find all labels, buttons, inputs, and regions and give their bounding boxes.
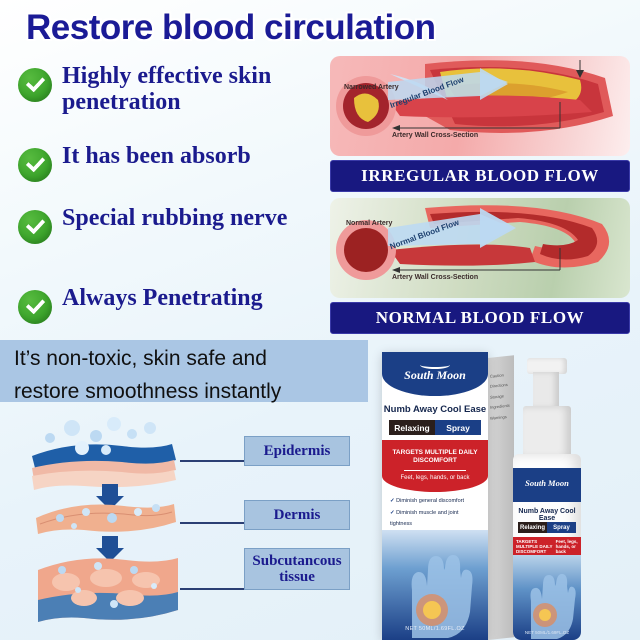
swoosh-icon bbox=[420, 361, 450, 369]
artery-panel-irregular: Narrowed Artery Irregular Blood Flow Art… bbox=[330, 56, 630, 156]
tagline-line1: It’s non-toxic, skin safe and bbox=[0, 340, 368, 373]
hand-illustration bbox=[513, 555, 581, 640]
red-banner-subtitle: Feet, legs, hands, or back bbox=[556, 539, 578, 554]
product-badge: Relaxing Spray bbox=[518, 522, 576, 533]
panel-caption: NORMAL BLOOD FLOW bbox=[330, 302, 630, 334]
benefit-label: Always Penetrating bbox=[62, 286, 263, 312]
badge-spray: Spray bbox=[547, 522, 576, 533]
check-circle-icon bbox=[18, 68, 52, 102]
box-feature: Diminish general discomfort bbox=[390, 496, 482, 508]
badge-spray: Spray bbox=[435, 420, 481, 435]
list-item: Highly effective skin penetration bbox=[18, 64, 338, 138]
irregular-artery-illustration: Narrowed Artery Irregular Blood Flow Art… bbox=[330, 56, 630, 156]
leader-line bbox=[180, 460, 246, 462]
list-item: Special rubbing nerve bbox=[18, 206, 338, 280]
list-item: It has been absorb bbox=[18, 144, 338, 200]
red-banner-title: TARGETS MULTIPLE DAILY DISCOMFORT bbox=[516, 539, 553, 554]
skin-layer-label-subcutaneous: Subcutancous tissue bbox=[244, 548, 350, 590]
advertisement-poster: Restore blood circulation Highly effecti… bbox=[0, 0, 640, 640]
skin-layer-label-dermis: Dermis bbox=[244, 500, 350, 530]
product-badge: Relaxing Spray bbox=[389, 420, 481, 435]
artery-type-label: Normal Artery bbox=[346, 220, 392, 227]
brand-name: South Moon bbox=[404, 368, 466, 382]
bottle-body: South Moon Numb Away Cool Ease Relaxing … bbox=[513, 454, 581, 640]
normal-artery-illustration: Normal Artery Normal Blood Flow Artery W… bbox=[330, 198, 630, 298]
divider bbox=[404, 470, 466, 471]
bottle-collar bbox=[523, 406, 571, 458]
artery-svg-irregular bbox=[330, 56, 630, 156]
product-name: Numb Away Cool Ease bbox=[513, 508, 581, 522]
net-content: NET 50ML/1.69FL.OZ bbox=[382, 626, 488, 632]
product-name: Numb Away Cool Ease bbox=[382, 404, 488, 415]
hand-svg bbox=[382, 530, 488, 640]
bottle-neck bbox=[533, 372, 559, 408]
artery-type-label: Narrowed Artery bbox=[344, 84, 399, 91]
artery-svg-normal bbox=[330, 198, 630, 298]
skin-layer-label-epidermis: Epidermis bbox=[244, 436, 350, 466]
page-title: Restore blood circulation bbox=[26, 8, 566, 48]
benefits-list: Highly effective skin penetration It has… bbox=[18, 64, 338, 342]
brand-logo: South Moon bbox=[382, 368, 488, 383]
product-box: South Moon Numb Away Cool Ease Relaxing … bbox=[382, 352, 488, 640]
check-circle-icon bbox=[18, 148, 52, 182]
artery-panel-normal: Normal Artery Normal Blood Flow Artery W… bbox=[330, 198, 630, 298]
net-content: NET 50ML/1.69FL.OZ bbox=[513, 630, 581, 635]
benefit-label: Special rubbing nerve bbox=[62, 206, 287, 232]
leader-line bbox=[180, 522, 246, 524]
spray-bottle: South Moon Numb Away Cool Ease Relaxing … bbox=[505, 358, 589, 640]
benefit-label: It has been absorb bbox=[62, 144, 251, 170]
check-circle-icon bbox=[18, 210, 52, 244]
box-feature: Diminish muscle and joint tightness bbox=[390, 508, 482, 531]
cross-section-label: Artery Wall Cross-Section bbox=[392, 274, 478, 281]
check-circle-icon bbox=[18, 290, 52, 324]
badge-relaxing: Relaxing bbox=[518, 522, 547, 533]
hand-illustration bbox=[382, 530, 488, 640]
tagline-line2: restore smoothness instantly bbox=[0, 373, 368, 406]
cross-section-label: Artery Wall Cross-Section bbox=[392, 132, 478, 139]
list-item: Always Penetrating bbox=[18, 286, 338, 336]
skin-penetration-diagram bbox=[14, 414, 244, 629]
brand-logo: South Moon bbox=[513, 478, 581, 488]
hand-svg bbox=[513, 555, 581, 640]
benefit-label: Highly effective skin penetration bbox=[62, 64, 338, 116]
leader-line bbox=[180, 588, 246, 590]
badge-relaxing: Relaxing bbox=[389, 420, 435, 435]
box-red-banner: TARGETS MULTIPLE DAILY DISCOMFORT Feet, … bbox=[382, 440, 488, 492]
red-banner-subtitle: Feet, legs, hands, or back bbox=[382, 475, 488, 481]
panel-caption: IRREGULAR BLOOD FLOW bbox=[330, 160, 630, 192]
tagline-banner: It’s non-toxic, skin safe and restore sm… bbox=[0, 340, 368, 402]
red-banner-title: TARGETS MULTIPLE DAILY DISCOMFORT bbox=[382, 440, 488, 466]
bottle-red-banner: TARGETS MULTIPLE DAILY DISCOMFORT Feet, … bbox=[513, 537, 581, 555]
